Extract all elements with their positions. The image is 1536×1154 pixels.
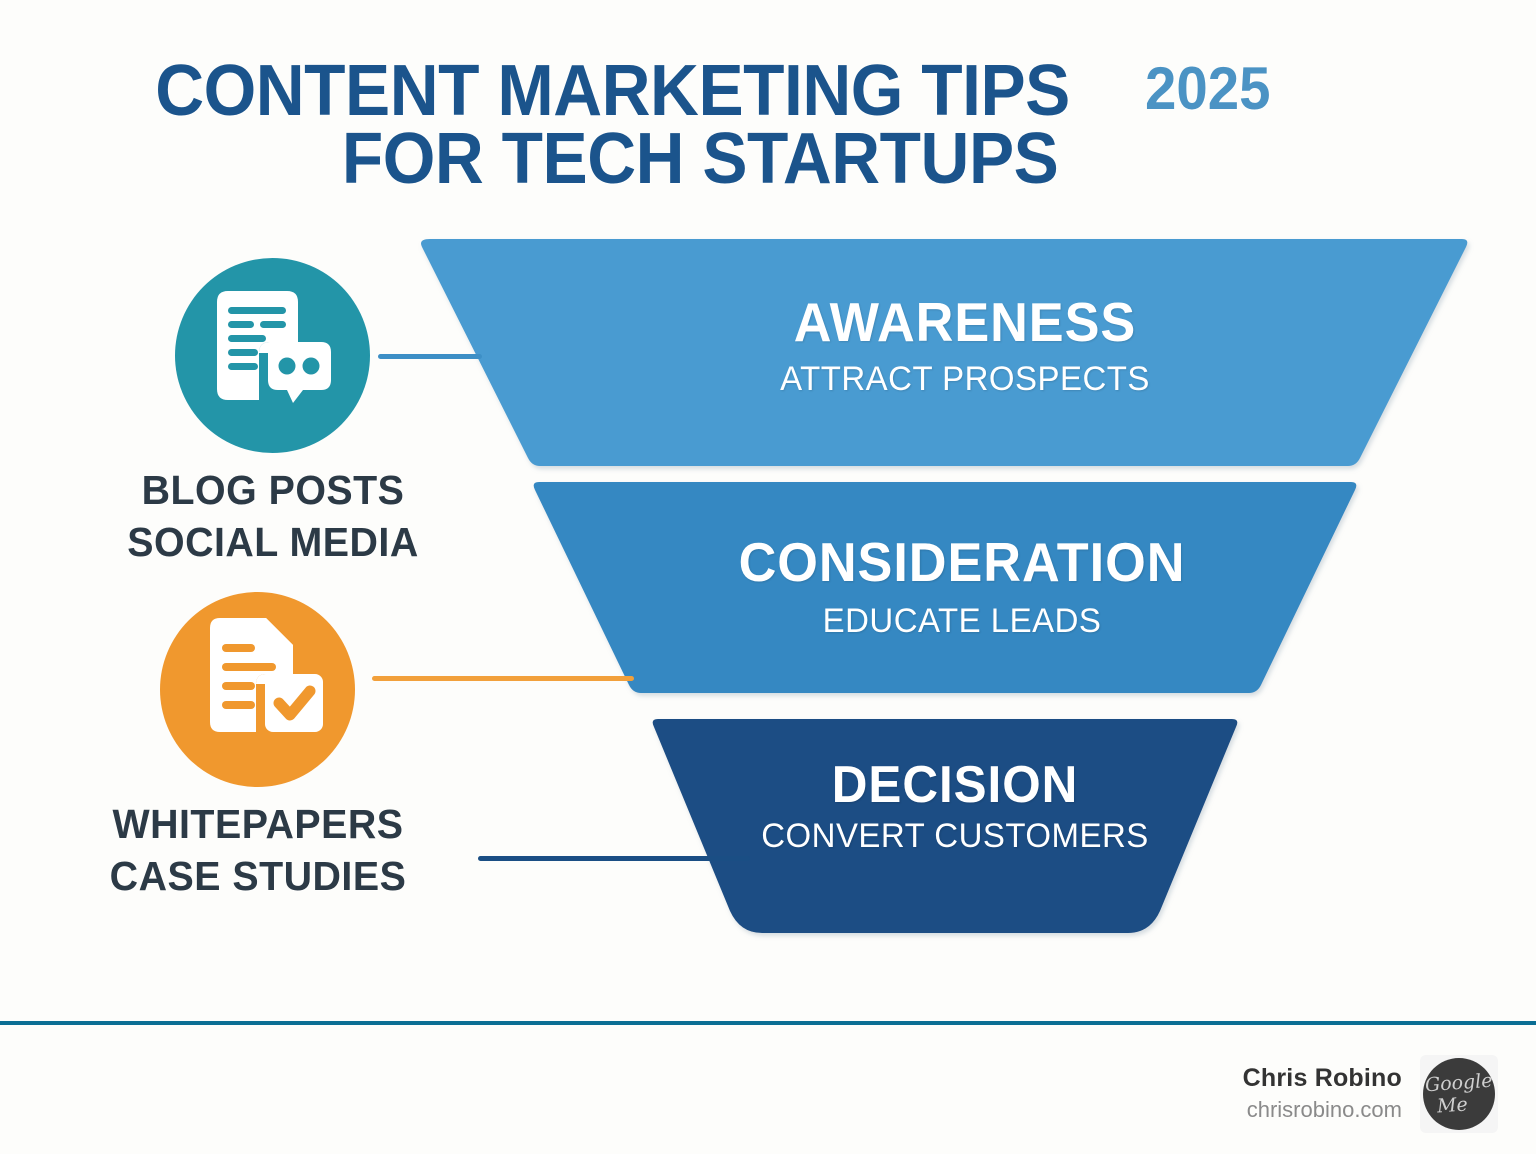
- legend-caption-whitepapers: WHITEPAPERS CASE STUDIES: [95, 798, 421, 903]
- funnel-segment-awareness[interactable]: [421, 239, 1467, 466]
- legend-caption-blog-posts: BLOG POSTS SOCIAL MEDIA: [110, 464, 436, 569]
- footer-credit: Chris Robino chrisrobino.com Google Me: [1243, 1055, 1498, 1133]
- title-line-2: FOR TECH STARTUPS: [342, 118, 1058, 200]
- legend-caption-blog-posts-line1: BLOG POSTS: [142, 467, 405, 513]
- footer-text-block: Chris Robino chrisrobino.com: [1243, 1063, 1402, 1125]
- legend-caption-whitepapers-line1: WHITEPAPERS: [112, 801, 403, 847]
- page-title: CONTENT MARKETING TIPS2025 FOR TECH STAR…: [0, 50, 1400, 200]
- google-me-logo-line1: Google: [1425, 1071, 1494, 1095]
- legend-caption-blog-posts-line2: SOCIAL MEDIA: [110, 516, 436, 568]
- google-me-logo-line2: Me: [1436, 1095, 1468, 1116]
- google-me-logo-disc: Google Me: [1423, 1058, 1495, 1130]
- document-check-icon[interactable]: [160, 592, 355, 787]
- author-website[interactable]: chrisrobino.com: [1243, 1096, 1402, 1125]
- google-me-logo[interactable]: Google Me: [1420, 1055, 1498, 1133]
- title-year: 2025: [1145, 54, 1270, 123]
- connector-decision: [478, 856, 750, 861]
- funnel-segment-decision[interactable]: [653, 719, 1238, 933]
- connector-consideration: [372, 676, 634, 681]
- infographic-canvas: CONTENT MARKETING TIPS2025 FOR TECH STAR…: [0, 0, 1536, 1154]
- connector-awareness: [378, 354, 482, 359]
- legend-caption-whitepapers-line2: CASE STUDIES: [95, 850, 421, 902]
- footer: Chris Robino chrisrobino.com Google Me: [0, 1025, 1536, 1154]
- document-chat-icon[interactable]: [175, 258, 370, 453]
- funnel-segment-consideration[interactable]: [534, 482, 1357, 693]
- author-name: Chris Robino: [1243, 1063, 1402, 1094]
- funnel-chart: AWARENESS ATTRACT PROSPECTS CONSIDERATIO…: [400, 230, 1490, 950]
